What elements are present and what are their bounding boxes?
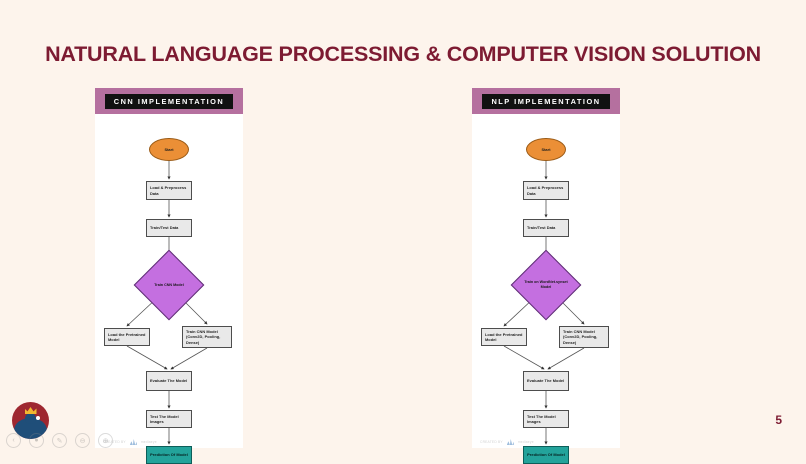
watermark-right-text-cnn: mediaeye [141,440,157,444]
node-load-preprocess-nlp[interactable]: Load & Preprocess Data [523,181,569,200]
card-header-label-nlp: NLP IMPLEMENTATION [482,94,609,109]
flowchart-canvas-cnn: Start Load & Preprocess Data Train/Test … [95,114,243,448]
watermark-left-text-nlp: CREATED BY [480,440,503,444]
node-test-images-nlp[interactable]: Test The Model Images [523,410,569,428]
node-evaluate-cnn[interactable]: Evaluate The Model [146,371,192,391]
node-architecture-label-nlp: Train CNN Model (Conv2D, Pooling, Dense) [563,329,608,345]
node-start-nlp[interactable]: Start [526,138,566,161]
node-pretrained-label-nlp: Load the Pretrained Model [485,332,526,343]
presenter-toolbar: ‹ ● ✎ ⊖ ⊕ [6,433,113,448]
node-decision-label-cnn: Train CNN Model [144,260,194,310]
crown-icon [25,407,37,414]
zoom-in-button[interactable]: ⊕ [98,433,113,448]
node-pretrained-label-cnn: Load the Pretrained Model [108,332,149,343]
node-evaluate-label-cnn: Evaluate The Model [150,378,187,383]
node-architecture-label-cnn: Train CNN Model (Conv2D, Pooling, Dense) [186,329,231,345]
node-model-architecture-cnn[interactable]: Train CNN Model (Conv2D, Pooling, Dense) [182,326,232,348]
node-split-label-nlp: Train/Test Data [527,225,555,230]
card-header-nlp: NLP IMPLEMENTATION [472,88,620,114]
flowchart-card-cnn: CNN IMPLEMENTATION [95,88,243,448]
node-prediction-nlp[interactable]: Prediction Of Model [523,446,569,464]
node-split-label-cnn: Train/Test Data [150,225,178,230]
watermark-right-text-nlp: mediaeye [518,440,534,444]
node-test-label-nlp: Test The Model Images [527,414,568,425]
flowchart-canvas-nlp: Start Load & Preprocess Data Train/Test … [472,114,620,448]
node-train-test-split-cnn[interactable]: Train/Test Data [146,219,192,237]
node-start-label-nlp: Start [541,147,550,152]
node-model-architecture-nlp[interactable]: Train CNN Model (Conv2D, Pooling, Dense) [559,326,609,348]
pen-button[interactable]: ✎ [52,433,67,448]
node-load-label-nlp: Load & Preprocess Data [527,185,568,196]
node-decision-cnn[interactable]: Train CNN Model [144,260,194,310]
record-button[interactable]: ● [29,433,44,448]
back-button[interactable]: ‹ [6,433,21,448]
avatar-head-shape [25,413,36,424]
watermark-logo-icon-cnn [130,439,137,445]
flowchart-card-nlp: NLP IMPLEMENTATION [472,88,620,448]
node-decision-nlp[interactable]: Train on WordNet.synset Model [521,260,571,310]
node-train-test-split-nlp[interactable]: Train/Test Data [523,219,569,237]
card-header-cnn: CNN IMPLEMENTATION [95,88,243,114]
node-decision-label-nlp: Train on WordNet.synset Model [521,260,571,310]
node-test-images-cnn[interactable]: Test The Model Images [146,410,192,428]
page-number: 5 [775,413,782,427]
node-test-label-cnn: Test The Model Images [150,414,191,425]
avatar-highlight-dot [36,416,40,420]
node-start-cnn[interactable]: Start [149,138,189,161]
node-prediction-label-nlp: Prediction Of Model [527,452,565,457]
node-evaluate-label-nlp: Evaluate The Model [527,378,564,383]
node-prediction-label-cnn: Prediction Of Model [150,452,188,457]
page-title: Natural Language Processing & Computer V… [0,42,806,67]
node-load-pretrained-nlp[interactable]: Load the Pretrained Model [481,328,527,346]
node-load-label-cnn: Load & Preprocess Data [150,185,191,196]
slide: Natural Language Processing & Computer V… [0,0,806,451]
node-load-pretrained-cnn[interactable]: Load the Pretrained Model [104,328,150,346]
node-load-preprocess-cnn[interactable]: Load & Preprocess Data [146,181,192,200]
card-header-label-cnn: CNN IMPLEMENTATION [105,94,233,109]
zoom-out-button[interactable]: ⊖ [75,433,90,448]
node-start-label-cnn: Start [164,147,173,152]
card-watermark-cnn: CREATED BY mediaeye [103,439,235,445]
card-watermark-nlp: CREATED BY mediaeye [480,439,612,445]
watermark-logo-icon-nlp [507,439,514,445]
node-prediction-cnn[interactable]: Prediction Of Model [146,446,192,464]
node-evaluate-nlp[interactable]: Evaluate The Model [523,371,569,391]
